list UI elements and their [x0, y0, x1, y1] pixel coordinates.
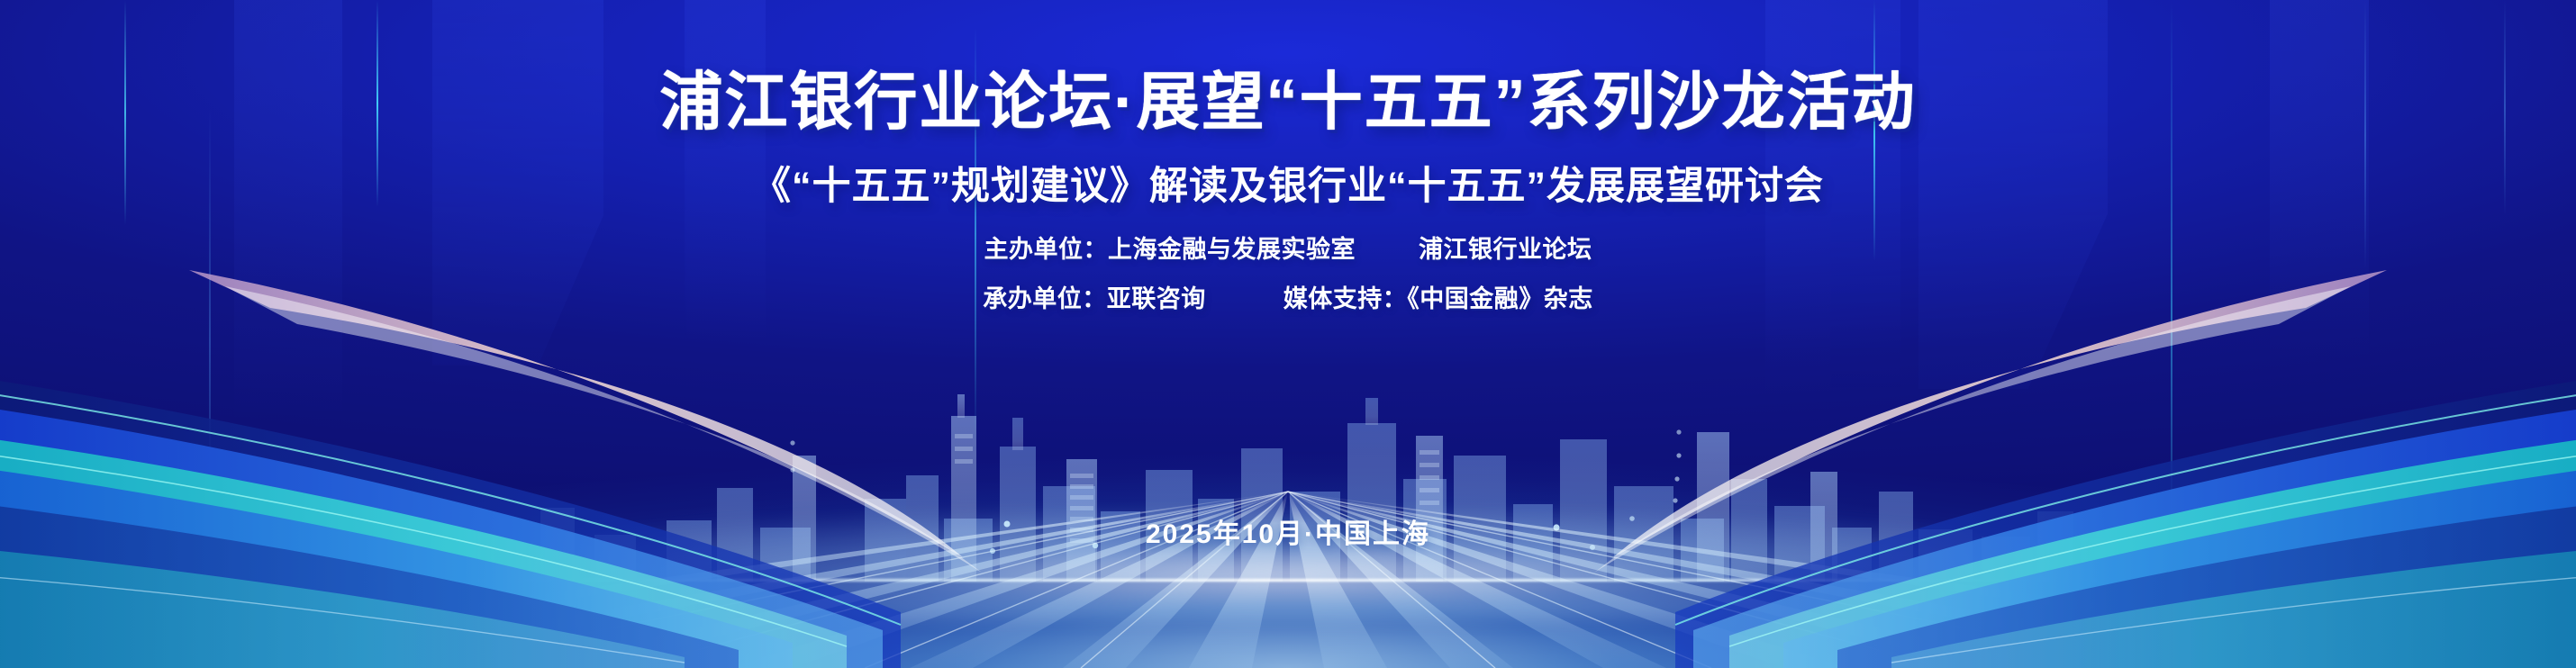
horizon-line	[155, 579, 2422, 582]
co-organizer-value: 亚联咨询	[1107, 285, 1206, 312]
date-location-block: 2025年10月·中国上海	[0, 511, 2576, 551]
media-support-value: 《中国金融》杂志	[1407, 285, 1593, 312]
organizer-second-value: 浦江银行业论坛	[1419, 236, 1592, 263]
organizer-line: 主办单位：上海金融与发展实验室浦江银行业论坛	[0, 211, 2576, 265]
event-title: 浦江银行业论坛·展望“十五五”系列沙龙活动	[0, 0, 2576, 133]
date-location: 2025年10月·中国上海	[0, 511, 2576, 551]
co-organizer-label: 承办单位：	[983, 285, 1107, 312]
media-support-label: 媒体支持：	[1283, 285, 1408, 312]
organizer-value: 上海金融与发展实验室	[1108, 236, 1356, 263]
event-banner: 浦江银行业论坛·展望“十五五”系列沙龙活动 《“十五五”规划建议》解读及银行业“…	[0, 0, 2576, 668]
event-subtitle: 《“十五五”规划建议》解读及银行业“十五五”发展展望研讨会	[0, 133, 2576, 211]
co-organizer-line: 承办单位：亚联咨询媒体支持：《中国金融》杂志	[0, 265, 2576, 314]
banner-content: 浦江银行业论坛·展望“十五五”系列沙龙活动 《“十五五”规划建议》解读及银行业“…	[0, 0, 2576, 314]
organizer-label: 主办单位：	[984, 236, 1109, 263]
